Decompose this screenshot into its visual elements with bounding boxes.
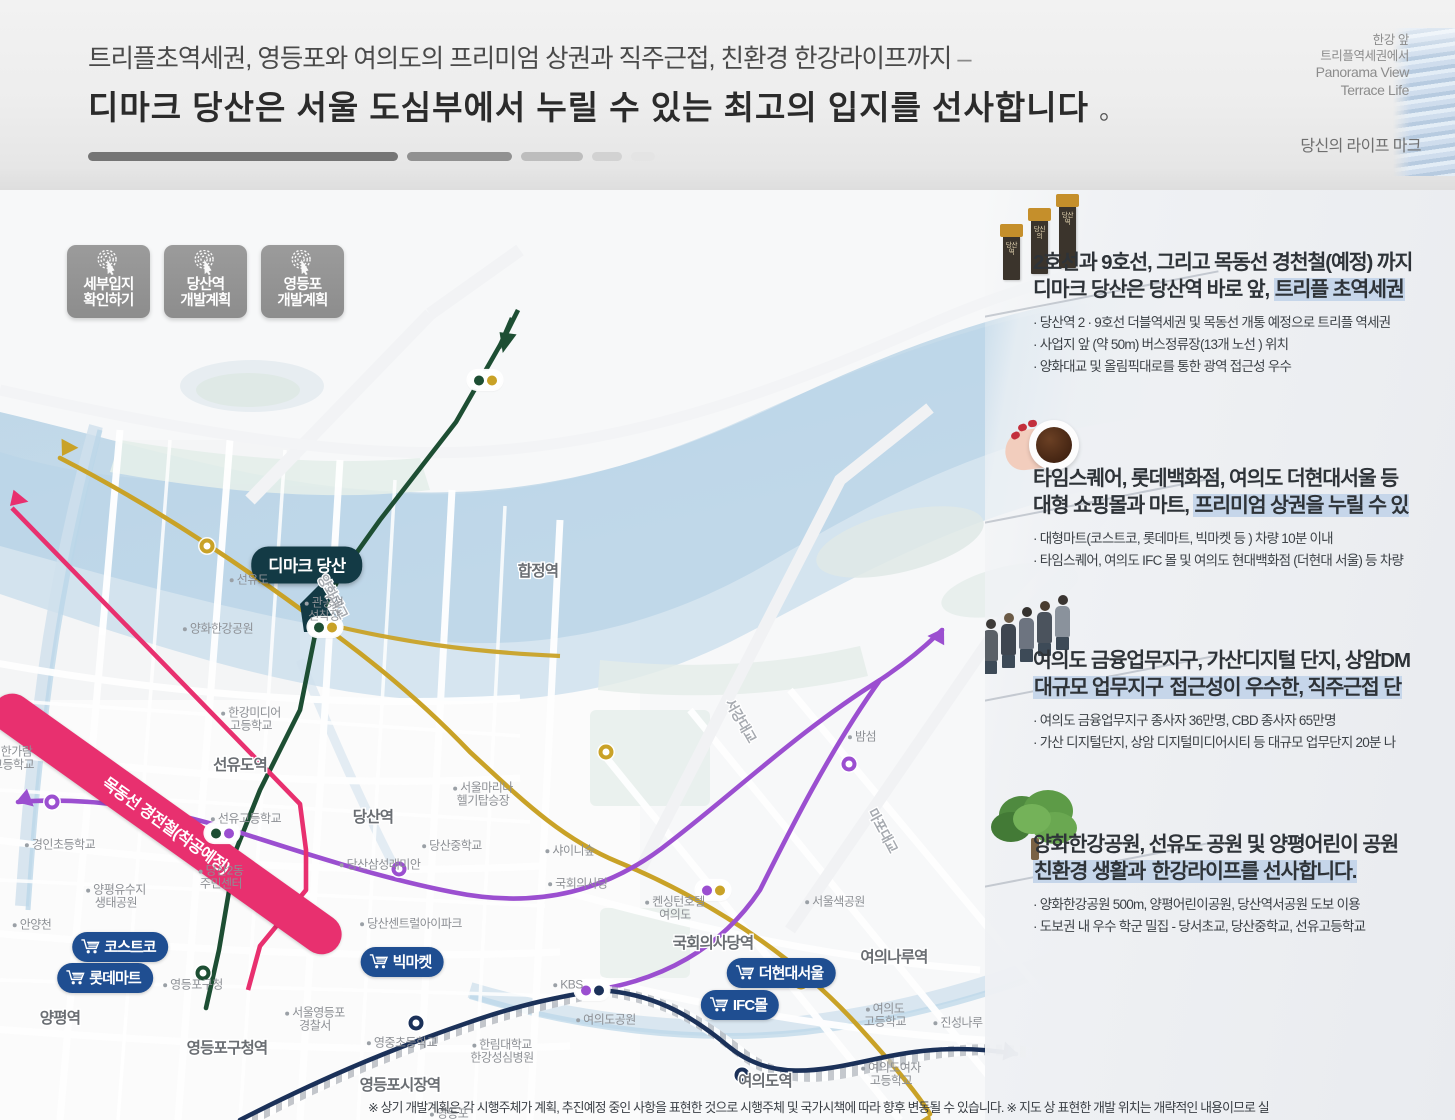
poi-label-line: 샤이니숲 — [545, 844, 594, 857]
poi-label-line: 여의도 — [864, 1003, 906, 1016]
poi-label-line: 밤섬 — [848, 730, 876, 743]
station-node-hapjeong[interactable] — [468, 371, 502, 390]
info-section-retail: 타임스퀘어, 롯데백화점, 여의도 더현대서울 등 대형 쇼핑몰과 마트, 프리… — [985, 408, 1455, 608]
poi-label-line: 당산중학교 — [422, 839, 482, 852]
station-label-dangsan[interactable]: 당산역 — [353, 805, 393, 827]
quick-button-label-line1: 세부입지 — [83, 277, 133, 293]
poi-label: 여의도공원 — [576, 1013, 636, 1026]
info-title-line2-plain: 디마크 당산은 당산역 바로 앞, — [1033, 278, 1274, 301]
info-section-transit: 당산역 당신의 당산역 2호선과 9호선, 그리고 목동선 경천철(예정) 까지… — [985, 190, 1455, 415]
poi-dot-icon — [340, 863, 344, 867]
progress-segment-3 — [521, 152, 583, 161]
poi-label: 진성나루 — [933, 1016, 982, 1029]
poi-label-line: 양평유수지 — [86, 884, 146, 897]
info-bullet-list: 당산역 2 · 9호선 더블역세권 및 목동선 개통 예정으로 트리플 역세권 … — [1033, 312, 1412, 378]
info-title-line2-highlight-a: 친환경 생활과 — [1033, 860, 1151, 883]
poi-pill-label: IFC몰 — [733, 994, 767, 1015]
poi-label-line: 안양천 — [13, 918, 52, 931]
poi-dot-icon — [548, 882, 552, 886]
poi-label: 서울마리나헬기탑승장 — [453, 782, 513, 809]
poi-label-line: 한강성심병원 — [470, 1052, 533, 1065]
station-label-yeouinaru[interactable]: 여의나루역 — [860, 945, 927, 967]
main-headline-period: 。 — [1099, 97, 1125, 125]
poi-label: 당산삼성래미안 — [340, 858, 421, 871]
poi-label-line: 서울영등포 — [285, 1007, 345, 1020]
station-node-yeouinaru[interactable] — [842, 757, 857, 772]
brand-line-4: Terrace Life — [1316, 82, 1409, 100]
station-label-yangpyeong[interactable]: 양평역 — [40, 1006, 80, 1028]
poi-label: 선유고등학교 — [211, 812, 281, 825]
info-bullet: 타임스퀘어, 여의도 IFC 몰 및 여의도 현대백화점 (더현대 서울) 등 … — [1033, 550, 1409, 572]
station-label-national-assembly[interactable]: 국회의사당역 — [673, 931, 754, 953]
poi-label-line: 한가람 — [0, 746, 34, 759]
main-headline-text: 디마크 당산은 서울 도심부에서 누릴 수 있는 최고의 입지를 선사합니다 — [88, 89, 1089, 126]
poi-dot-icon — [645, 900, 649, 904]
info-bullet-list: 양화한강공원 500m, 양평어린이공원, 당산역서공원 도보 이용 도보권 내… — [1033, 894, 1398, 938]
quick-button-detail-location[interactable]: 세부입지 확인하기 — [67, 245, 150, 318]
brand-line-1: 한강 앞 — [1316, 32, 1409, 48]
poi-pill-label: 롯데마트 — [89, 967, 141, 988]
station-node-yeongdeungpo[interactable] — [409, 1016, 424, 1031]
station-label-seonyudo[interactable]: 선유도역 — [213, 753, 267, 775]
poi-label-line: 선유고등학교 — [211, 812, 281, 825]
poi-label-line: 한림대학교 — [470, 1039, 533, 1052]
poi-label-line: 고등학교 — [0, 759, 34, 772]
info-bullet: 사업지 앞 (약 50m) 버스정류장(13개 노선 ) 위치 — [1033, 334, 1412, 356]
shopping-cart-icon — [710, 997, 729, 1012]
poi-label: 밤섬 — [848, 730, 876, 743]
poi-dot-icon — [367, 1041, 371, 1045]
tap-finger-icon — [290, 250, 316, 276]
quick-button-yeongdeungpo-development[interactable]: 영등포 개발계획 — [261, 245, 344, 318]
info-bullet: 양화대교 및 올림픽대로를 통한 광역 접근성 우수 — [1033, 356, 1412, 378]
info-bullet: 가산 디지털단지, 상암 디지털미디어시티 등 대규모 업무단지 20분 나 — [1033, 732, 1410, 754]
poi-dot-icon — [545, 849, 549, 853]
poi-label: 양화한강공원 — [183, 622, 253, 635]
info-title-line2-highlight: 프리미엄 상권을 누릴 수 있 — [1193, 494, 1409, 517]
poi-pill-label: 코스트코 — [104, 936, 156, 957]
poi-label-line: 고등학교 — [864, 1016, 906, 1029]
shopping-cart-icon — [66, 970, 85, 985]
poi-dot-icon — [199, 869, 203, 873]
station-node-yeongdeungpogu-office[interactable] — [205, 824, 239, 843]
info-title-line1: 타임스퀘어, 롯데백화점, 여의도 더현대서울 등 — [1033, 467, 1398, 490]
poi-dot-icon — [211, 817, 215, 821]
poi-dot-icon — [285, 1011, 289, 1015]
quick-button-label-line1: 당산역 — [180, 277, 230, 293]
poi-label: 샤이니숲 — [545, 844, 594, 857]
poi-label-line: 고등학교 — [861, 1075, 921, 1088]
station-node-national-assembly[interactable] — [599, 745, 614, 760]
poi-pill-label: 더현대서울 — [759, 962, 824, 983]
station-label-yeongdeungpogu-office[interactable]: 영등포구청역 — [187, 1036, 268, 1058]
poi-label-line: 고등학교 — [221, 720, 281, 733]
poi-dot-icon — [453, 786, 457, 790]
poi-dot-icon — [866, 1007, 870, 1011]
poi-label: 관공선선착장 — [305, 597, 344, 624]
project-marker-text: 디마크 당산 — [268, 558, 345, 576]
poi-label: 영등포구청 — [163, 978, 223, 991]
station-label-yeongdeungpo-market[interactable]: 영등포시장역 — [360, 1073, 441, 1095]
poi-label: 서울색공원 — [805, 895, 865, 908]
poi-dot-icon — [805, 900, 809, 904]
poi-pill-lottemart[interactable]: 롯데마트 — [57, 963, 153, 993]
sub-headline-dash: – — [957, 45, 970, 73]
brand-slogan: 당신의 라이프 마크 — [1300, 132, 1421, 156]
poi-dot-icon — [25, 843, 29, 847]
info-title-line2-highlight-a: 대규모 업무지구 — [1033, 676, 1164, 699]
poi-dot-icon — [163, 983, 167, 987]
poi-label: 당산센트럴아이파크 — [360, 917, 462, 930]
poi-pill-bigmarket[interactable]: 빅마켓 — [361, 947, 444, 977]
info-section-business: 여의도 금융업무지구, 가산디지털 단지, 상암DM 대규모 업무지구 접근성이… — [985, 598, 1455, 788]
poi-label-line: 주민센터 — [199, 878, 244, 891]
poi-label-line: 서울마리나 — [453, 782, 513, 795]
poi-dot-icon — [861, 1066, 865, 1070]
info-title-line2-highlight-b: 한강라이프를 선사합니다. — [1151, 860, 1358, 883]
info-title-line2-highlight: 트리플 초역세권 — [1274, 278, 1405, 301]
poi-label-line: 헬기탑승장 — [453, 795, 513, 808]
poi-label-line: KBS — [553, 978, 583, 991]
poi-label-line: 여의도공원 — [576, 1013, 636, 1026]
poi-label: 한림대학교한강성심병원 — [470, 1039, 533, 1066]
info-section-title: 2호선과 9호선, 그리고 목동선 경천철(예정) 까지 디마크 당산은 당산역… — [1033, 250, 1412, 303]
quick-button-label-line2: 개발계획 — [180, 293, 230, 309]
poi-label: 양평유수지생태공원 — [86, 884, 146, 911]
info-bullet-list: 대형마트(코스트코, 롯데마트, 빅마켓 등 ) 차량 10분 이내 타임스퀘어… — [1033, 528, 1409, 572]
poi-label-line: 당산센트럴아이파크 — [360, 917, 462, 930]
poi-label-line: 생태공원 — [86, 897, 146, 910]
brand-taglines: 한강 앞 트리플역세권에서 Panorama View Terrace Life — [1316, 32, 1409, 100]
poi-label-line: 진성나루 — [933, 1016, 982, 1029]
poi-dot-icon — [360, 922, 364, 926]
progress-indicator — [88, 152, 655, 161]
poi-label: 여의도여자고등학교 — [861, 1062, 921, 1089]
poi-label-line: 영중초등학교 — [367, 1036, 437, 1049]
poi-label-line: 영등포구청 — [163, 978, 223, 991]
info-section-environment: 양화한강공원, 선유도 공원 및 양평어린이 공원 친환경 생활과 한강라이프를… — [985, 780, 1455, 980]
poi-dot-icon — [422, 844, 426, 848]
poi-label-line: 서울색공원 — [805, 895, 865, 908]
poi-dot-icon — [221, 711, 225, 715]
station-label-hapjeong[interactable]: 합정역 — [518, 559, 558, 581]
poi-label: 켄싱턴호텔여의도 — [645, 896, 705, 923]
progress-segment-1 — [88, 152, 398, 161]
poi-label-line: 한강미디어 — [221, 707, 281, 720]
poi-label: 서울영등포경찰서 — [285, 1007, 345, 1034]
info-bullet-list: 여의도 금융업무지구 종사자 36만명, CBD 종사자 65만명 가산 디지털… — [1033, 710, 1410, 754]
poi-label: 국회의사당 — [548, 877, 608, 890]
poi-pill-label: 빅마켓 — [393, 951, 432, 972]
shopping-cart-icon — [81, 939, 100, 954]
poi-label: 안양천 — [13, 918, 52, 931]
brand-line-3: Panorama View — [1316, 64, 1409, 82]
poi-dot-icon — [230, 578, 234, 582]
poi-label-line: 선유도 — [230, 573, 269, 586]
poi-label-line: 여의도여자 — [861, 1062, 921, 1075]
quick-button-dangsan-development[interactable]: 당산역 개발계획 — [164, 245, 247, 318]
poi-label-line: 경인초등학교 — [25, 838, 95, 851]
poi-pill-costco[interactable]: 코스트코 — [72, 932, 168, 962]
sub-headline: 트리플초역세권, 영등포와 여의도의 프리미엄 상권과 직주근접, 친환경 한강… — [88, 44, 1125, 75]
poi-label: 당산중학교 — [422, 839, 482, 852]
info-title-line1: 여의도 금융업무지구, 가산디지털 단지, 상암DM — [1033, 649, 1410, 672]
poi-label-line: 양화한강공원 — [183, 622, 253, 635]
info-title-line2-highlight-b: 접근성이 우수한, 직주근접 단 — [1164, 676, 1402, 699]
info-section-title: 타임스퀘어, 롯데백화점, 여의도 더현대서울 등 대형 쇼핑몰과 마트, 프리… — [1033, 466, 1409, 519]
poi-label: 경인초등학교 — [25, 838, 95, 851]
tap-finger-icon — [193, 250, 219, 276]
poi-label: 선유도 — [230, 573, 269, 586]
poi-label-line: 당산삼성래미안 — [340, 858, 421, 871]
quick-button-label-line2: 개발계획 — [277, 293, 327, 309]
quick-button-label-line2: 확인하기 — [83, 293, 133, 309]
sub-headline-text: 트리플초역세권, 영등포와 여의도의 프리미엄 상권과 직주근접, 친환경 한강… — [88, 45, 951, 73]
header-text-block: 트리플초역세권, 영등포와 여의도의 프리미엄 상권과 직주근접, 친환경 한강… — [88, 44, 1125, 127]
page-header: 트리플초역세권, 영등포와 여의도의 프리미엄 상권과 직주근접, 친환경 한강… — [0, 0, 1455, 190]
poi-label-line: 국회의사당 — [548, 877, 608, 890]
info-bullet: 여의도 금융업무지구 종사자 36만명, CBD 종사자 65만명 — [1033, 710, 1410, 732]
disclaimer-text: ※ 상기 개발계획은 각 시행주체가 계획, 추진예정 중인 사항을 표현한 것… — [0, 1097, 1455, 1116]
progress-segment-2 — [407, 152, 512, 161]
station-node-seonyudo[interactable] — [200, 539, 215, 554]
poi-dot-icon — [933, 1021, 937, 1025]
station-label-yeouido[interactable]: 여의도역 — [738, 1069, 792, 1091]
poi-label: KBS — [553, 978, 583, 991]
tap-finger-icon — [96, 250, 122, 276]
quick-button-label-line1: 영등포 — [277, 277, 327, 293]
info-title-line1: 양화한강공원, 선유도 공원 및 양평어린이 공원 — [1033, 833, 1398, 856]
info-bullet: 양화한강공원 500m, 양평어린이공원, 당산역서공원 도보 이용 — [1033, 894, 1398, 916]
poi-dot-icon — [305, 601, 309, 605]
shopping-cart-icon — [370, 954, 389, 969]
quick-action-buttons[interactable]: 세부입지 확인하기 당산역 개발계획 — [67, 245, 344, 318]
poi-dot-icon — [13, 923, 17, 927]
poi-pill-thehyundai-seoul[interactable]: 더현대서울 — [727, 958, 836, 988]
poi-label: 영중초등학교 — [367, 1036, 437, 1049]
info-bullet: 대형마트(코스트코, 롯데마트, 빅마켓 등 ) 차량 10분 이내 — [1033, 528, 1409, 550]
poi-label-line: 당산2동 — [199, 865, 244, 878]
info-title-line1: 2호선과 9호선, 그리고 목동선 경천철(예정) 까지 — [1033, 251, 1412, 274]
poi-pill-ifc-mall[interactable]: IFC몰 — [701, 990, 779, 1020]
progress-segment-5 — [631, 152, 655, 161]
poi-dot-icon — [183, 627, 187, 631]
poi-dot-icon — [86, 888, 90, 892]
info-section-title: 여의도 금융업무지구, 가산디지털 단지, 상암DM 대규모 업무지구 접근성이… — [1033, 648, 1410, 701]
poi-label-line: 관공선 — [305, 597, 344, 610]
info-bullet: 당산역 2 · 9호선 더블역세권 및 목동선 개통 예정으로 트리플 역세권 — [1033, 312, 1412, 334]
poi-dot-icon — [576, 1018, 580, 1022]
progress-segment-4 — [592, 152, 622, 161]
brand-block: 한강 앞 트리플역세권에서 Panorama View Terrace Life… — [1255, 28, 1455, 176]
info-title-line2-plain: 대형 쇼핑몰과 마트, — [1033, 494, 1193, 517]
poi-label-line: 선착장 — [305, 610, 344, 623]
brand-line-2: 트리플역세권에서 — [1316, 48, 1409, 64]
poi-label-line: 경찰서 — [285, 1020, 345, 1033]
poi-label-line: 여의도 — [645, 909, 705, 922]
poi-dot-icon — [848, 735, 852, 739]
info-bullet: 도보권 내 우수 학군 밀집 - 당서초교, 당산중학교, 선유고등학교 — [1033, 916, 1398, 938]
poi-label: 당산2동주민센터 — [199, 865, 244, 892]
info-section-title: 양화한강공원, 선유도 공원 및 양평어린이 공원 친환경 생활과 한강라이프를… — [1033, 832, 1398, 885]
poi-dot-icon — [553, 983, 557, 987]
station-node-yangpyeong[interactable] — [45, 795, 60, 810]
shopping-cart-icon — [736, 965, 755, 980]
main-headline: 디마크 당산은 서울 도심부에서 누릴 수 있는 최고의 입지를 선사합니다 。 — [88, 88, 1125, 128]
poi-label-line: 켄싱턴호텔 — [645, 896, 705, 909]
poi-label: 여의도고등학교 — [864, 1003, 906, 1030]
poi-label: 한가람고등학교 — [0, 746, 34, 773]
poi-label: 한강미디어고등학교 — [221, 707, 281, 734]
poi-dot-icon — [472, 1043, 476, 1047]
